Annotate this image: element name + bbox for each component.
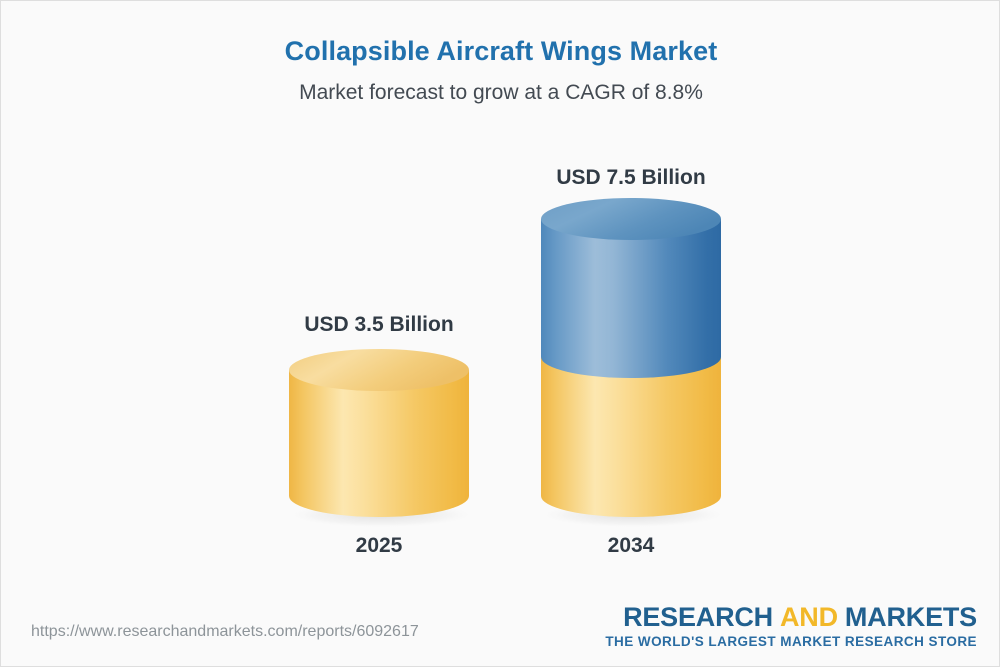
category-label-2025: 2025: [279, 534, 479, 558]
logo-word-and: AND: [780, 602, 838, 632]
bar-2025-top: [289, 349, 469, 391]
chart-plot-area: USD 3.5 Billion USD 7.5 Billion 2025 203…: [1, 1, 1000, 667]
logo-word-research: RESEARCH: [623, 602, 773, 632]
research-and-markets-logo[interactable]: RESEARCHANDMARKETS THE WORLD'S LARGEST M…: [605, 603, 977, 649]
bar-2034-top: [541, 198, 721, 240]
bar-2034-segment-gold: [541, 357, 721, 517]
bar-2025-body: [289, 370, 469, 517]
value-label-2025: USD 3.5 Billion: [279, 313, 479, 337]
bar-2025[interactable]: [281, 349, 477, 529]
bar-2034-segment-blue: [541, 219, 721, 378]
value-label-2034: USD 7.5 Billion: [531, 166, 731, 190]
logo-wordmark: RESEARCHANDMARKETS: [605, 603, 977, 631]
report-url[interactable]: https://www.researchandmarkets.com/repor…: [31, 623, 419, 641]
category-label-2034: 2034: [531, 534, 731, 558]
logo-tagline: THE WORLD'S LARGEST MARKET RESEARCH STOR…: [605, 634, 977, 649]
logo-word-markets: MARKETS: [845, 602, 977, 632]
bar-2034[interactable]: [533, 197, 729, 529]
infographic-canvas: Collapsible Aircraft Wings Market Market…: [0, 0, 1000, 667]
